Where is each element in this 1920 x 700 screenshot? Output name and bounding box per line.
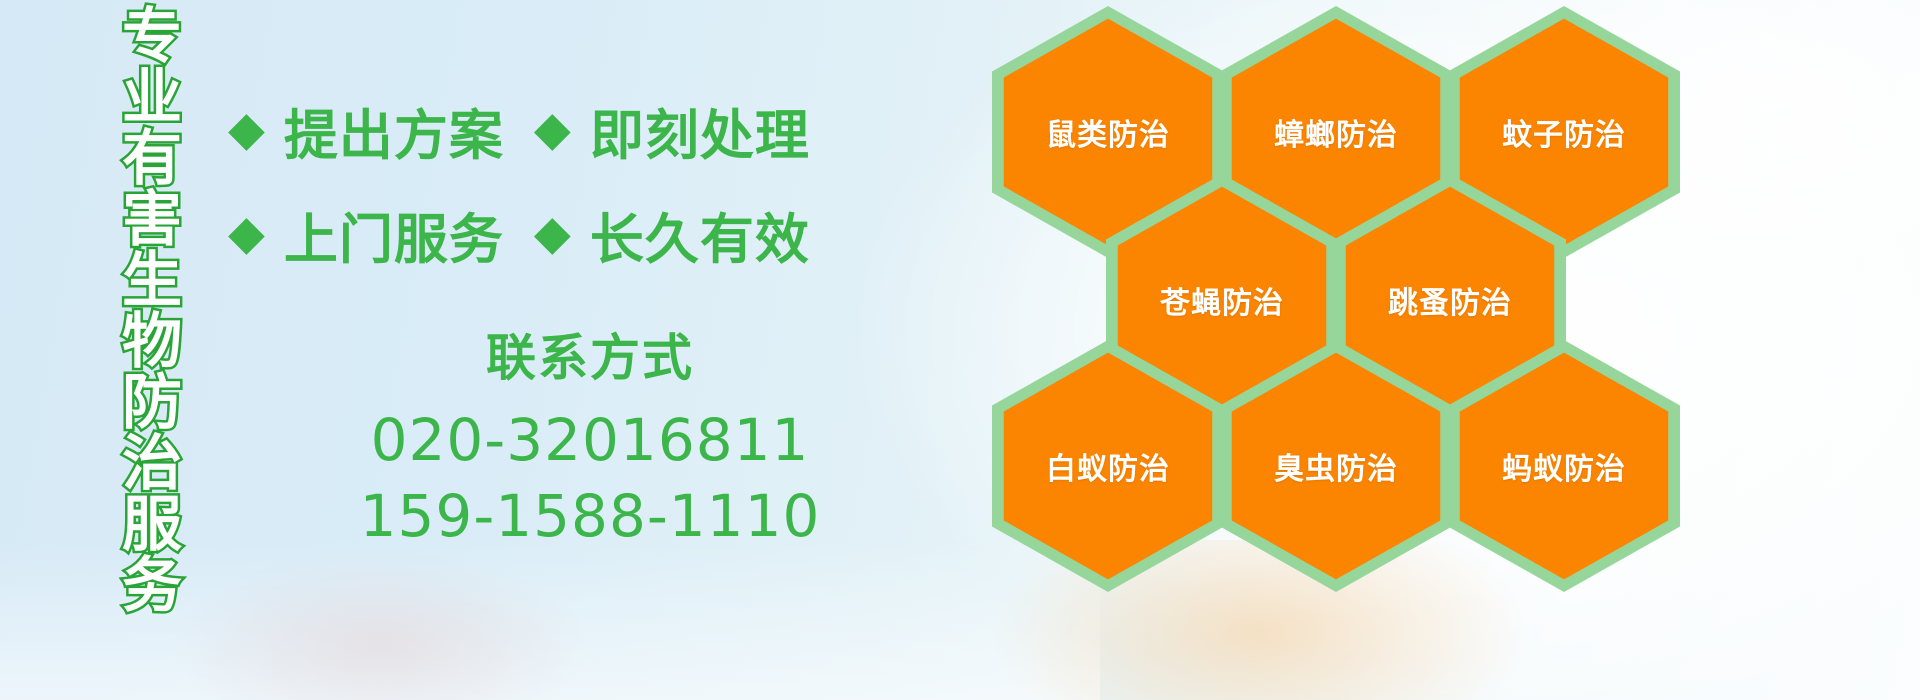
background-blob-left (170, 550, 590, 700)
service-hex-label: 白蚁防治 (992, 444, 1224, 488)
vertical-headline-char: 服 (122, 494, 182, 555)
diamond-bullet-icon: ◆ (534, 106, 572, 154)
feature-row: ◆ 上门服务 ◆ 长久有效 (228, 182, 868, 286)
vertical-headline-char: 害 (122, 189, 182, 250)
vertical-headline-char: 防 (122, 372, 182, 433)
feature-label: 提出方案 (284, 91, 504, 170)
service-hex-label: 鼠类防治 (992, 110, 1224, 154)
feature-row: ◆ 提出方案 ◆ 即刻处理 (228, 78, 868, 182)
feature-label: 即刻处理 (590, 91, 810, 170)
phone-number-mobile[interactable]: 159-1588-1110 (310, 478, 870, 554)
vertical-headline-char: 治 (122, 433, 182, 494)
service-hex-label: 臭虫防治 (1220, 444, 1452, 488)
service-hex-label: 跳蚤防治 (1334, 278, 1566, 322)
vertical-headline-char: 业 (122, 67, 182, 128)
phone-number-landline[interactable]: 020-32016811 (310, 402, 870, 478)
vertical-headline-char: 专 (122, 6, 182, 67)
service-hex-bedbug[interactable]: 臭虫防治 (1220, 340, 1452, 592)
service-hex-label: 蟑螂防治 (1220, 110, 1452, 154)
service-hex-label: 蚂蚁防治 (1448, 444, 1680, 488)
contact-block: 联系方式 020-32016811 159-1588-1110 (310, 318, 870, 554)
service-hex-grid: 鼠类防治 蟑螂防治 蚊子防治 苍蝇防治 跳蚤防治 白蚁防治 (1046, 0, 1666, 680)
contact-title: 联系方式 (310, 318, 870, 390)
service-hex-ant[interactable]: 蚂蚁防治 (1448, 340, 1680, 592)
diamond-bullet-icon: ◆ (228, 210, 266, 258)
feature-label: 长久有效 (590, 195, 810, 274)
vertical-headline: 专 业 有 害 生 物 防 治 服 务 (104, 6, 200, 566)
promo-banner: 专 业 有 害 生 物 防 治 服 务 ◆ 提出方案 ◆ 即刻处理 ◆ 上门服务… (0, 0, 1920, 700)
feature-label: 上门服务 (284, 195, 504, 274)
diamond-bullet-icon: ◆ (228, 106, 266, 154)
feature-list: ◆ 提出方案 ◆ 即刻处理 ◆ 上门服务 ◆ 长久有效 (228, 78, 868, 286)
vertical-headline-char: 物 (122, 311, 182, 372)
vertical-headline-char: 务 (122, 555, 182, 616)
service-hex-label: 蚊子防治 (1448, 110, 1680, 154)
vertical-headline-char: 生 (122, 250, 182, 311)
vertical-headline-char: 有 (122, 128, 182, 189)
diamond-bullet-icon: ◆ (534, 210, 572, 258)
service-hex-termite[interactable]: 白蚁防治 (992, 340, 1224, 592)
service-hex-label: 苍蝇防治 (1106, 278, 1338, 322)
